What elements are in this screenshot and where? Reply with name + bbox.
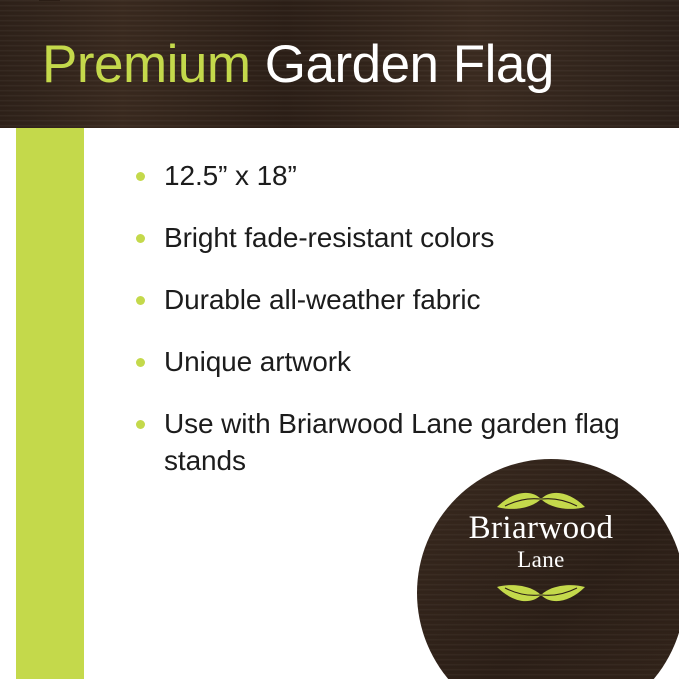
- feature-list: 12.5” x 18” Bright fade-resistant colors…: [124, 158, 644, 505]
- brand-name-line2: Lane: [417, 546, 665, 574]
- sidebar-vertical-label-wrap: Premium Outdoor Decor: [16, 0, 84, 196]
- sidebar-band: [16, 128, 84, 679]
- list-item: Bright fade-resistant colors: [124, 220, 644, 257]
- brand-name-block: Briarwood Lane: [417, 511, 665, 573]
- feature-card: 12.5” x 18” Bright fade-resistant colors…: [84, 128, 679, 679]
- list-item: Durable all-weather fabric: [124, 282, 644, 319]
- list-item: Unique artwork: [124, 344, 644, 381]
- leaf-flourish-bottom-icon: [495, 581, 587, 607]
- list-item: 12.5” x 18”: [124, 158, 644, 195]
- header-banner: Premium Garden Flag: [0, 0, 679, 128]
- brand-name-line1: Briarwood: [417, 511, 665, 546]
- page-title: Premium Garden Flag: [42, 34, 554, 95]
- product-feature-poster: Premium Garden Flag Premium Outdoor Deco…: [0, 0, 679, 679]
- sidebar-vertical-label: Premium Outdoor Decor: [16, 0, 84, 3]
- page-title-rest: Garden Flag: [251, 35, 554, 94]
